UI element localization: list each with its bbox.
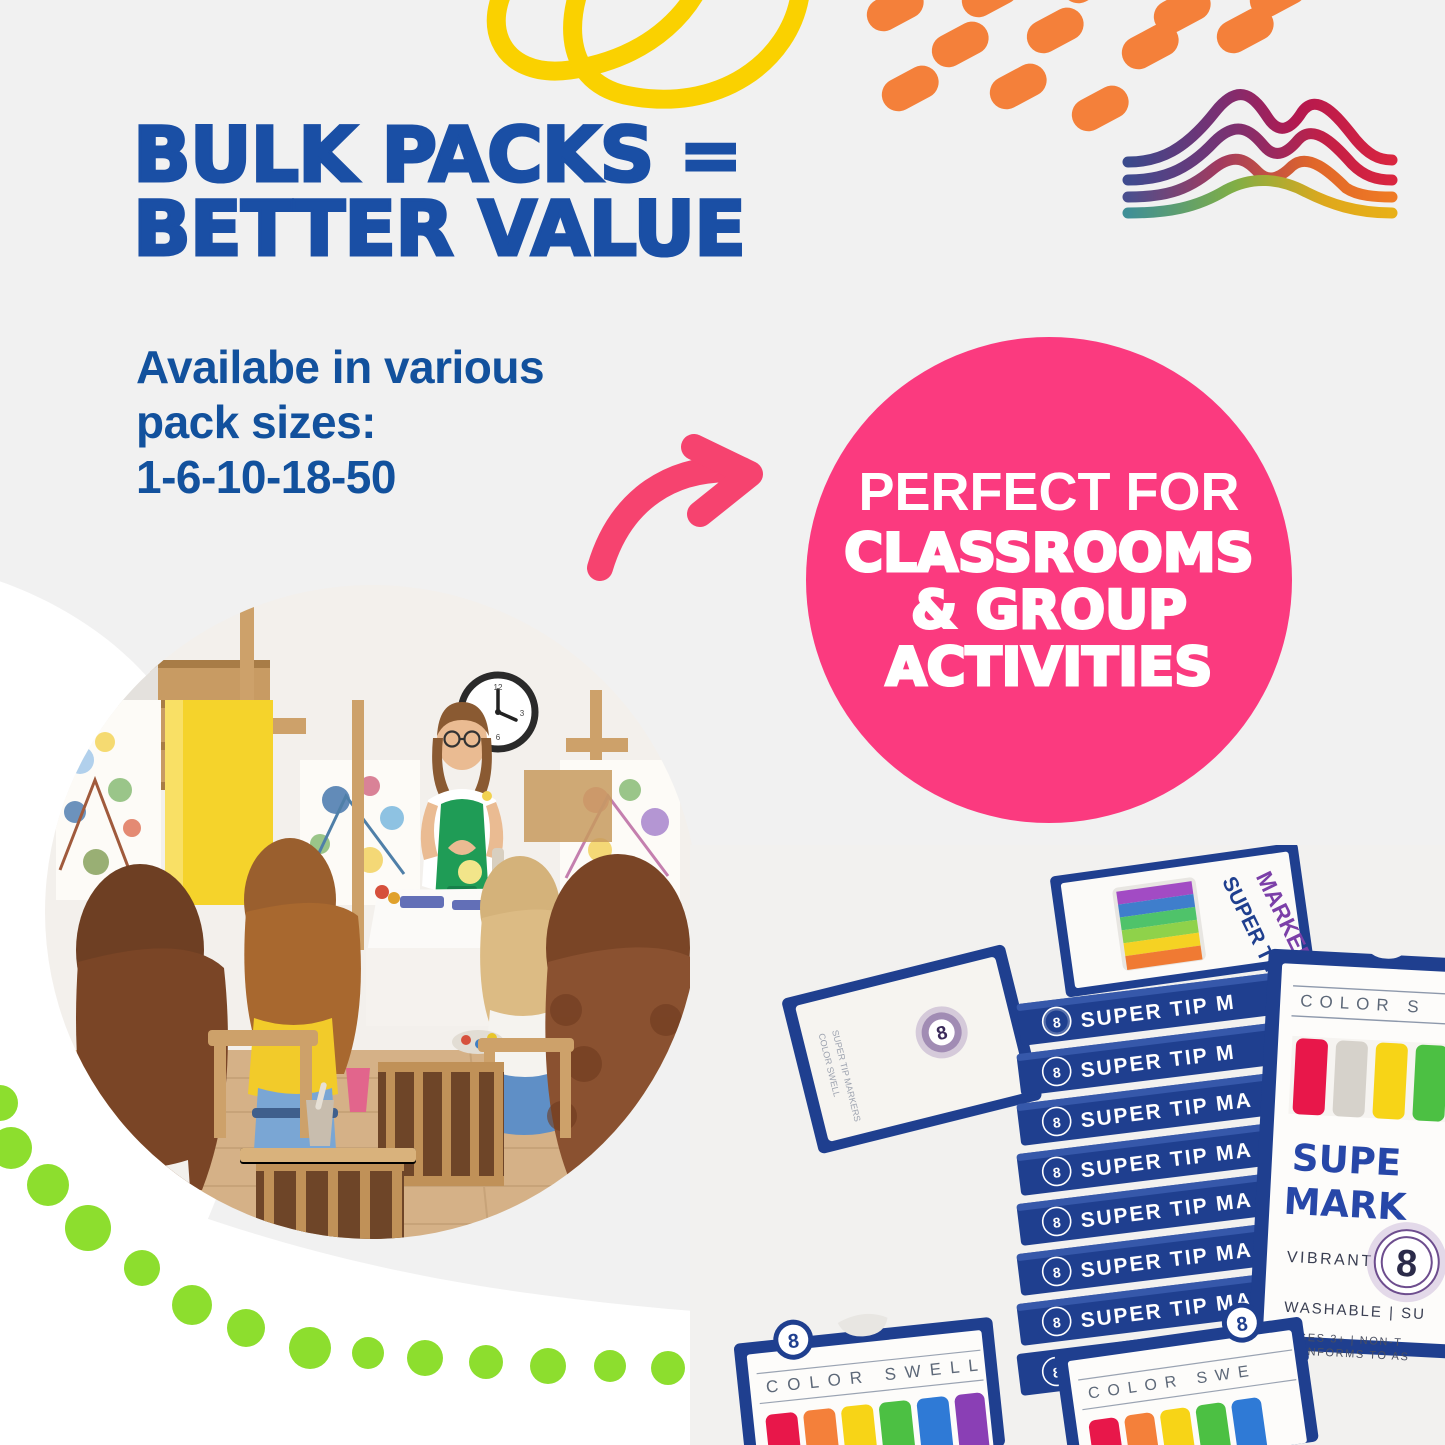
yellow-squiggle: [496, 0, 802, 99]
badge-line-3: ACTIVITIES: [844, 640, 1253, 697]
super-tip-markers-packs: COLOR SWELL SUPER TIP MARKERS 8: [690, 841, 1445, 1445]
subhead-line-1: Availabe in various: [136, 340, 544, 395]
badge-main-text: CLASSROOMS & GROUP ACTIVITIES: [844, 526, 1253, 696]
subhead-line-2: pack sizes:: [136, 395, 544, 450]
svg-text:8: 8: [1395, 1243, 1418, 1286]
svg-text:MARK: MARK: [1283, 1180, 1409, 1229]
svg-text:SUPE: SUPE: [1291, 1136, 1402, 1185]
page-title: BULK PACKS = BETTER VALUE: [133, 118, 773, 267]
badge-line-1: CLASSROOMS: [844, 526, 1253, 583]
svg-text:3: 3: [520, 709, 525, 718]
color-swell-logo: [1128, 95, 1392, 228]
subhead-line-3: 1-6-10-18-50: [136, 450, 544, 505]
orange-dashes: [861, 0, 1312, 137]
svg-text:6: 6: [496, 733, 501, 742]
poster-canvas: 123 69: [0, 0, 1445, 1445]
headline-block: BULK PACKS = BETTER VALUE: [133, 118, 773, 267]
svg-text:8: 8: [787, 1330, 800, 1353]
headline-line-2: BETTER VALUE: [133, 192, 773, 266]
curved-arrow-icon: [600, 447, 750, 568]
perfect-for-badge: PERFECT FOR CLASSROOMS & GROUP ACTIVITIE…: [806, 337, 1292, 823]
badge-line-2: & GROUP: [844, 583, 1253, 640]
svg-text:12: 12: [494, 683, 503, 692]
headline-line-1: BULK PACKS =: [133, 118, 773, 192]
subheadline: Availabe in various pack sizes: 1-6-10-1…: [136, 340, 544, 506]
badge-top-text: PERFECT FOR: [858, 464, 1239, 521]
